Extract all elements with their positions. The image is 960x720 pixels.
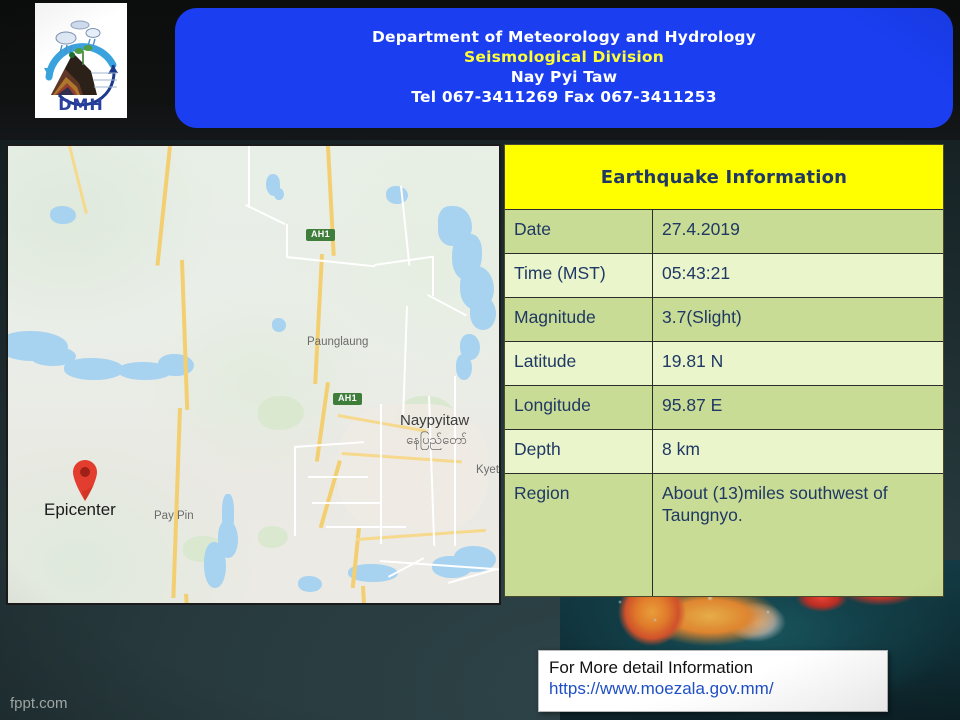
map-water-body bbox=[204, 542, 226, 588]
header-line-contact: Tel 067-3411269 Fax 067-3411253 bbox=[411, 89, 716, 107]
map-water-body bbox=[470, 296, 496, 330]
map-road-local bbox=[308, 476, 368, 478]
table-row: Magnitude 3.7(Slight) bbox=[505, 298, 943, 342]
map-road-local bbox=[380, 404, 382, 544]
table-cell-value: 19.81 N bbox=[653, 342, 943, 385]
table-cell-value: 05:43:21 bbox=[653, 254, 943, 297]
map-shield-ah1: AH1 bbox=[333, 393, 362, 405]
table-title: Earthquake Information bbox=[505, 145, 943, 210]
map-road-local bbox=[312, 502, 382, 504]
map-water-body bbox=[64, 358, 124, 380]
dmh-logo: DMH bbox=[35, 3, 127, 118]
table-cell-key: Region bbox=[505, 474, 653, 596]
header-line-city: Nay Pyi Taw bbox=[511, 69, 617, 87]
map-pin-icon[interactable] bbox=[70, 458, 100, 502]
seismic-globe-speckles bbox=[600, 590, 930, 650]
map-water-body bbox=[386, 186, 408, 204]
more-info-link[interactable]: https://www.moezala.gov.mm/ bbox=[549, 678, 877, 700]
earthquake-info-table: Earthquake Information Date 27.4.2019 Ti… bbox=[504, 144, 944, 597]
map-water-body bbox=[298, 576, 322, 592]
epicenter-label: Epicenter bbox=[44, 500, 116, 520]
watermark: fppt.com bbox=[10, 695, 68, 712]
map-label-paunglaung: Paunglaung bbox=[307, 336, 368, 348]
slide-root: DMH Department of Meteorology and Hydrol… bbox=[0, 0, 960, 720]
map-water-body bbox=[456, 354, 472, 380]
table-cell-key: Depth bbox=[505, 430, 653, 473]
map-road-local bbox=[432, 256, 434, 296]
map-label-naypyitaw: Naypyitaw bbox=[400, 412, 469, 429]
table-row: Time (MST) 05:43:21 bbox=[505, 254, 943, 298]
header-line-department: Department of Meteorology and Hydrology bbox=[372, 29, 756, 47]
table-cell-value: About (13)miles southwest of Taungnyo. bbox=[653, 474, 943, 596]
table-cell-value: 8 km bbox=[653, 430, 943, 473]
epicenter-map[interactable]: AH1 AH1 Paunglaung Naypyitaw နေပြည်တော် … bbox=[6, 144, 501, 605]
map-road-local bbox=[326, 526, 406, 528]
table-cell-key: Longitude bbox=[505, 386, 653, 429]
table-cell-value: 95.87 E bbox=[653, 386, 943, 429]
map-label-kyet: Kyet bbox=[476, 464, 499, 476]
epicenter-marker-group[interactable]: Epicenter bbox=[70, 458, 100, 507]
table-row: Depth 8 km bbox=[505, 430, 943, 474]
map-water-body bbox=[158, 354, 194, 376]
table-row: Date 27.4.2019 bbox=[505, 210, 943, 254]
map-water-body bbox=[50, 206, 76, 224]
table-cell-value: 27.4.2019 bbox=[653, 210, 943, 253]
logo-caption: DMH bbox=[35, 95, 127, 114]
map-label-pay-pin: Pay Pin bbox=[154, 510, 194, 522]
more-info-box: For More detail Information https://www.… bbox=[538, 650, 888, 712]
map-road-local bbox=[454, 376, 456, 546]
table-row: Longitude 95.87 E bbox=[505, 386, 943, 430]
map-water-body bbox=[272, 318, 286, 332]
table-cell-key: Latitude bbox=[505, 342, 653, 385]
map-canvas: AH1 AH1 Paunglaung Naypyitaw နေပြည်တော် … bbox=[8, 146, 499, 603]
table-row: Region About (13)miles southwest of Taun… bbox=[505, 474, 943, 596]
map-road-local bbox=[294, 446, 296, 536]
table-row: Latitude 19.81 N bbox=[505, 342, 943, 386]
header-banner: Department of Meteorology and Hydrology … bbox=[175, 8, 953, 128]
map-road-local bbox=[286, 224, 288, 258]
header-line-division: Seismological Division bbox=[464, 49, 664, 67]
table-cell-key: Magnitude bbox=[505, 298, 653, 341]
map-shield-ah1: AH1 bbox=[306, 229, 335, 241]
table-cell-key: Time (MST) bbox=[505, 254, 653, 297]
table-cell-key: Date bbox=[505, 210, 653, 253]
more-info-heading: For More detail Information bbox=[549, 657, 877, 678]
table-cell-value: 3.7(Slight) bbox=[653, 298, 943, 341]
map-label-naypyitaw-burmese: နေပြည်တော် bbox=[406, 432, 467, 451]
map-road-local bbox=[248, 146, 250, 208]
map-water-body bbox=[274, 188, 284, 200]
